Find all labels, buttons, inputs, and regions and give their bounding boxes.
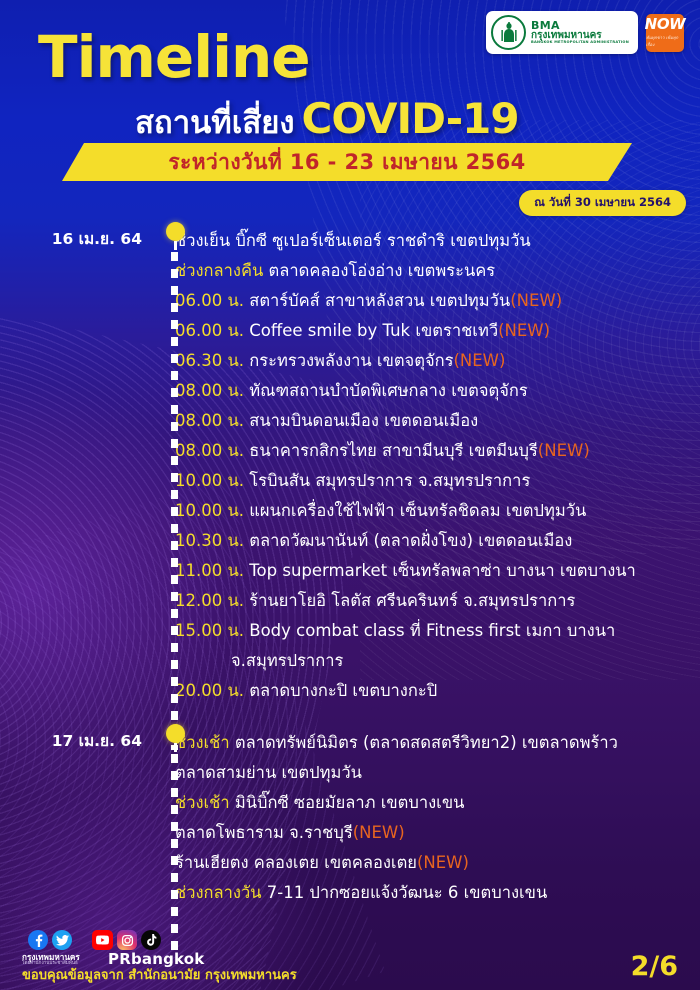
entry-time-label: 15.00 น. xyxy=(175,621,244,640)
timeline-stem xyxy=(174,241,177,250)
timeline-entry: จ.สมุทรปราการ xyxy=(175,646,690,676)
credit-text: ขอบคุณข้อมูลจาก สำนักอนามัย กรุงเทพมหานค… xyxy=(22,964,297,985)
date-range-banner: ระหว่างวันที่ 16 - 23 เมษายน 2564 xyxy=(62,143,632,181)
entry-location-text: ร้านยาโยอิ โลตัส ศรีนครินทร์ จ.สมุทรปราก… xyxy=(244,591,575,610)
timeline-entry: 10.30 น. ตลาดวัฒนานันท์ (ตลาดฝั่งโขง) เข… xyxy=(175,526,690,556)
facebook-icon[interactable] xyxy=(28,930,48,950)
entry-location-text: Top supermarket เซ็นทรัลพลาซ่า บางนา เขต… xyxy=(244,561,636,580)
bma-seal-icon xyxy=(491,15,526,50)
entry-location-text: สตาร์บัคส์ สาขาหลังสวน เขตปทุมวัน xyxy=(244,291,510,310)
entry-location-text: 7-11 ปากซอยแจ้งวัฒนะ 6 เขตบางเขน xyxy=(262,883,548,902)
subtitle-english: COVID-19 xyxy=(302,94,519,143)
entry-new-badge: (NEW) xyxy=(510,291,562,310)
entry-time-label: 08.00 น. xyxy=(175,381,244,400)
now-logo-text: NOW xyxy=(645,17,686,32)
now-logo-subtitle: ทันทุกข่าว เข้มทุกเรื่อง xyxy=(646,34,684,48)
timeline-entry: 20.00 น. ตลาดบางกะปิ เขตบางกะปิ xyxy=(175,676,690,706)
social-icon-row xyxy=(28,930,161,950)
timeline-entry: 06.00 น. Coffee smile by Tuk เขตราชเทวี(… xyxy=(175,316,690,346)
timeline-day: 16 เม.ย. 64ช่วงเย็น บิ๊กซี ซูเปอร์เซ็นเต… xyxy=(0,226,700,706)
entry-location-text: ตลาดโพธาราม จ.ราชบุรี xyxy=(175,823,353,842)
poster-root: BMA กรุงเทพมหานคร BANGKOK METROPOLITAN A… xyxy=(0,0,700,990)
timeline-entry-list: ช่วงเช้า ตลาดทรัพย์นิมิตร (ตลาดสดสตรีวิท… xyxy=(175,728,700,908)
bma-logo: BMA กรุงเทพมหานคร BANGKOK METROPOLITAN A… xyxy=(486,11,638,54)
poster-header: BMA กรุงเทพมหานคร BANGKOK METROPOLITAN A… xyxy=(0,0,700,190)
timeline-date-label: 17 เม.ย. 64 xyxy=(52,728,142,753)
timeline-marker xyxy=(163,222,187,250)
entry-new-badge: (NEW) xyxy=(353,823,405,842)
twitter-icon[interactable] xyxy=(52,930,72,950)
entry-location-text: ตลาดทรัพย์นิมิตร (ตลาดสดสตรีวิทยา2) เขตล… xyxy=(230,733,618,752)
entry-new-badge: (NEW) xyxy=(453,351,505,370)
entry-location-text: สนามบินดอนเมือง เขตดอนเมือง xyxy=(244,411,478,430)
timeline-entry: ช่วงเช้า มินิบิ๊กซี ซอยมัยลาภ เขตบางเขน xyxy=(175,788,690,818)
entry-new-badge: (NEW) xyxy=(538,441,590,460)
entry-location-text: Body combat class ที่ Fitness first เมกา… xyxy=(244,621,615,640)
page-number: 2/6 xyxy=(631,951,678,982)
timeline-entry-list: ช่วงเย็น บิ๊กซี ซูเปอร์เซ็นเตอร์ ราชดำริ… xyxy=(175,226,700,706)
entry-time-label: ช่วงกลางคืน xyxy=(175,261,263,280)
timeline-entry: 08.00 น. สนามบินดอนเมือง เขตดอนเมือง xyxy=(175,406,690,436)
now-logo: NOW ทันทุกข่าว เข้มทุกเรื่อง xyxy=(646,14,684,52)
entry-new-badge: (NEW) xyxy=(417,853,469,872)
timeline-entry: 06.30 น. กระทรวงพลังงาน เขตจตุจักร(NEW) xyxy=(175,346,690,376)
poster-footer: กรุงเทพมหานคร โดยสำนักงานประชาสัมพันธ์ P… xyxy=(0,922,700,990)
entry-location-text: ตลาดวัฒนานันท์ (ตลาดฝั่งโขง) เขตดอนเมือง xyxy=(244,531,572,550)
timeline-stem xyxy=(174,743,177,752)
entry-location-text: ตลาดสามย่าน เขตปทุมวัน xyxy=(175,763,362,782)
entry-location-text: ตลาดคลองโอ่งอ่าง เขตพระนคร xyxy=(263,261,495,280)
timeline-day-left: 16 เม.ย. 64 xyxy=(0,226,175,706)
timeline-entry: ช่วงเย็น บิ๊กซี ซูเปอร์เซ็นเตอร์ ราชดำริ… xyxy=(175,226,690,256)
timeline-dot-icon xyxy=(166,724,185,743)
entry-time-label: 20.00 น. xyxy=(175,681,244,700)
entry-location-text: มินิบิ๊กซี ซอยมัยลาภ เขตบางเขน xyxy=(230,793,465,812)
date-range-text: ระหว่างวันที่ 16 - 23 เมษายน 2564 xyxy=(168,146,525,179)
entry-time-label: 11.00 น. xyxy=(175,561,244,580)
entry-location-text: ทัณฑสถานบำบัดพิเศษกลาง เขตจตุจักร xyxy=(244,381,528,400)
timeline-entry: 15.00 น. Body combat class ที่ Fitness f… xyxy=(175,616,690,646)
entry-location-text: ตลาดบางกะปิ เขตบางกะปิ xyxy=(244,681,437,700)
timeline: 16 เม.ย. 64ช่วงเย็น บิ๊กซี ซูเปอร์เซ็นเต… xyxy=(0,190,700,908)
entry-time-label: 06.30 น. xyxy=(175,351,244,370)
entry-time-label: 08.00 น. xyxy=(175,441,244,460)
entry-time-label: ช่วงเช้า xyxy=(175,793,230,812)
bma-logo-text: BMA กรุงเทพมหานคร BANGKOK METROPOLITAN A… xyxy=(531,20,629,45)
entry-location-text: จ.สมุทรปราการ xyxy=(231,651,343,670)
timeline-entry: 06.00 น. สตาร์บัคส์ สาขาหลังสวน เขตปทุมว… xyxy=(175,286,690,316)
entry-new-badge: (NEW) xyxy=(498,321,550,340)
timeline-entry: 08.00 น. ธนาคารกสิกรไทย สาขามีนบุรี เขตม… xyxy=(175,436,690,466)
entry-time-label: 10.00 น. xyxy=(175,471,244,490)
timeline-date-label: 16 เม.ย. 64 xyxy=(52,226,142,251)
entry-time-label: ช่วงกลางวัน xyxy=(175,883,262,902)
entry-location-text: Coffee smile by Tuk เขตราชเทวี xyxy=(244,321,498,340)
timeline-entry: ช่วงกลางคืน ตลาดคลองโอ่งอ่าง เขตพระนคร xyxy=(175,256,690,286)
timeline-entry: 10.00 น. โรบินสัน สมุทรปราการ จ.สมุทรปรา… xyxy=(175,466,690,496)
timeline-dot-icon xyxy=(166,222,185,241)
timeline-dashed-line xyxy=(171,252,178,750)
instagram-icon[interactable] xyxy=(117,930,137,950)
page-title: Timeline xyxy=(38,28,310,86)
timeline-marker xyxy=(163,724,187,752)
tiktok-icon[interactable] xyxy=(141,930,161,950)
entry-location-text: ร้านเฮียตง คลองเตย เขตคลองเตย xyxy=(175,853,417,872)
timeline-day: 17 เม.ย. 64ช่วงเช้า ตลาดทรัพย์นิมิตร (ตล… xyxy=(0,728,700,908)
timeline-entry: 10.00 น. แผนกเครื่องใช้ไฟฟ้า เซ็นทรัลชิด… xyxy=(175,496,690,526)
subtitle-thai: สถานที่เสี่ยง xyxy=(135,97,295,147)
entry-location-text: แผนกเครื่องใช้ไฟฟ้า เซ็นทรัลชิดลม เขตปทุ… xyxy=(244,501,586,520)
timeline-day-left: 17 เม.ย. 64 xyxy=(0,728,175,908)
entry-time-label: 06.00 น. xyxy=(175,291,244,310)
timeline-entry: ร้านเฮียตง คลองเตย เขตคลองเตย(NEW) xyxy=(175,848,690,878)
timeline-entry: 08.00 น. ทัณฑสถานบำบัดพิเศษกลาง เขตจตุจั… xyxy=(175,376,690,406)
timeline-entry: ตลาดโพธาราม จ.ราชบุรี(NEW) xyxy=(175,818,690,848)
logo-group: BMA กรุงเทพมหานคร BANGKOK METROPOLITAN A… xyxy=(486,11,684,54)
entry-location-text: โรบินสัน สมุทรปราการ จ.สมุทรปราการ xyxy=(244,471,530,490)
timeline-entry: 12.00 น. ร้านยาโยอิ โลตัส ศรีนครินทร์ จ.… xyxy=(175,586,690,616)
entry-time-label: 10.30 น. xyxy=(175,531,244,550)
entry-location-text: บิ๊กซี ซูเปอร์เซ็นเตอร์ ราชดำริ เขตปทุมว… xyxy=(230,231,531,250)
bma-english-name: BANGKOK METROPOLITAN ADMINISTRATION xyxy=(531,41,629,45)
entry-location-text: ธนาคารกสิกรไทย สาขามีนบุรี เขตมีนบุรี xyxy=(244,441,538,460)
entry-location-text: กระทรวงพลังงาน เขตจตุจักร xyxy=(244,351,453,370)
entry-time-label: 08.00 น. xyxy=(175,411,244,430)
youtube-icon[interactable] xyxy=(92,930,113,950)
entry-time-label: 12.00 น. xyxy=(175,591,244,610)
page-subtitle: สถานที่เสี่ยง COVID-19 xyxy=(135,94,519,147)
timeline-entry: 11.00 น. Top supermarket เซ็นทรัลพลาซ่า … xyxy=(175,556,690,586)
timeline-entry: ช่วงกลางวัน 7-11 ปากซอยแจ้งวัฒนะ 6 เขตบา… xyxy=(175,878,690,908)
entry-time-label: 10.00 น. xyxy=(175,501,244,520)
entry-time-label: 06.00 น. xyxy=(175,321,244,340)
timeline-entry: ตลาดสามย่าน เขตปทุมวัน xyxy=(175,758,690,788)
timeline-entry: ช่วงเช้า ตลาดทรัพย์นิมิตร (ตลาดสดสตรีวิท… xyxy=(175,728,690,758)
